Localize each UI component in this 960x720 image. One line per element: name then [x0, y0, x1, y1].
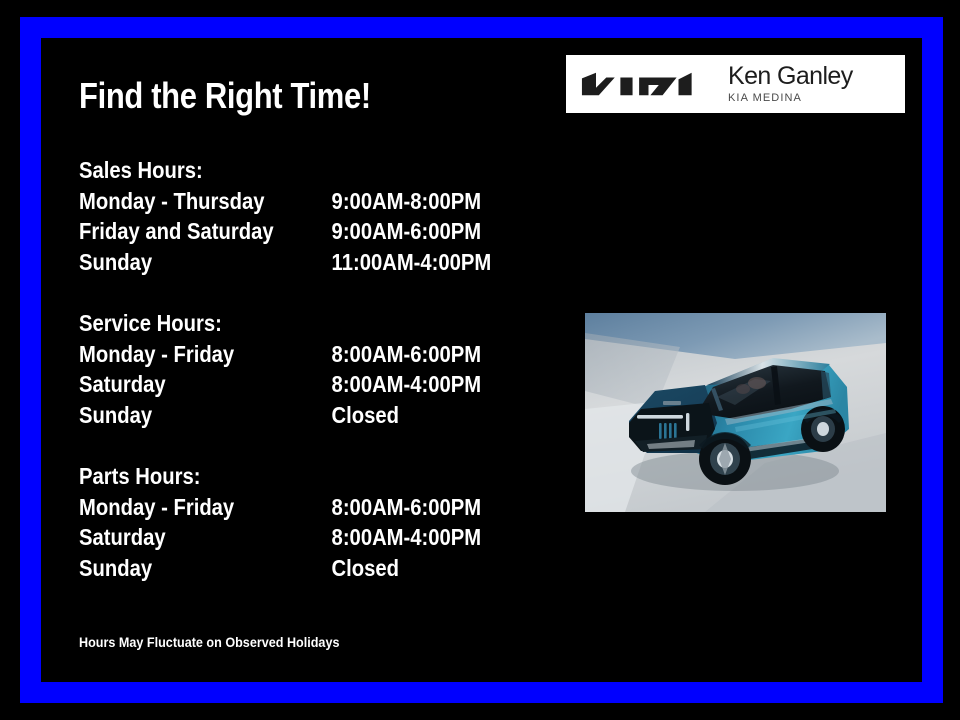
- hours-row-time: 11:00AM-4:00PM: [332, 247, 492, 278]
- dealer-name-wrap: Ken Ganley KIA MEDINA: [728, 64, 853, 104]
- hours-row: Monday - Friday 8:00AM-6:00PM: [79, 339, 519, 370]
- hours-row: Saturday 8:00AM-4:00PM: [79, 369, 519, 400]
- dealer-name: Ken Ganley: [728, 64, 853, 90]
- hours-row: Saturday 8:00AM-4:00PM: [79, 522, 519, 553]
- hours-row-day: Monday - Friday: [79, 339, 234, 370]
- hours-row-day: Monday - Friday: [79, 492, 234, 523]
- hours-row-day: Sunday: [79, 553, 152, 584]
- page-title: Find the Right Time!: [79, 78, 371, 114]
- hours-row-time: 8:00AM-4:00PM: [332, 522, 482, 553]
- hours-row: Sunday 11:00AM-4:00PM: [79, 247, 519, 278]
- hours-row: Monday - Thursday 9:00AM-8:00PM: [79, 186, 519, 217]
- dealer-subtitle: KIA MEDINA: [728, 92, 853, 104]
- hours-block-parts: Parts Hours: Monday - Friday 8:00AM-6:00…: [79, 461, 579, 583]
- kia-logo-icon: [580, 69, 702, 99]
- hours-row-time: 8:00AM-6:00PM: [332, 339, 482, 370]
- hours-row-day: Friday and Saturday: [79, 216, 274, 247]
- hours-row-time: Closed: [332, 553, 399, 584]
- dealer-logo-box: Ken Ganley KIA MEDINA: [566, 55, 905, 113]
- hours-heading-sales: Sales Hours:: [79, 155, 519, 186]
- slide-root: Find the Right Time! Sales Hours: Monday…: [0, 0, 960, 720]
- hours-row-time: Closed: [332, 400, 399, 431]
- kia-ev9-suv-photo: [585, 313, 886, 512]
- hours-row-time: 9:00AM-8:00PM: [332, 186, 482, 217]
- hours-row: Sunday Closed: [79, 400, 519, 431]
- hours-row-time: 8:00AM-4:00PM: [332, 369, 482, 400]
- hours-row-day: Saturday: [79, 522, 166, 553]
- hours-row: Monday - Friday 8:00AM-6:00PM: [79, 492, 519, 523]
- hours-row-time: 9:00AM-6:00PM: [332, 216, 482, 247]
- hours-block-service: Service Hours: Monday - Friday 8:00AM-6:…: [79, 308, 579, 430]
- hours-row: Sunday Closed: [79, 553, 519, 584]
- hours-row-day: Saturday: [79, 369, 166, 400]
- hours-row-day: Monday - Thursday: [79, 186, 265, 217]
- hours-heading-service: Service Hours:: [79, 308, 519, 339]
- hours-row: Friday and Saturday 9:00AM-6:00PM: [79, 216, 519, 247]
- slide-content-area: Find the Right Time! Sales Hours: Monday…: [41, 38, 922, 682]
- hours-row-day: Sunday: [79, 247, 152, 278]
- hours-heading-parts: Parts Hours:: [79, 461, 519, 492]
- hours-row-day: Sunday: [79, 400, 152, 431]
- hours-block-sales: Sales Hours: Monday - Thursday 9:00AM-8:…: [79, 155, 579, 277]
- hours-row-time: 8:00AM-6:00PM: [332, 492, 482, 523]
- footer-disclaimer: Hours May Fluctuate on Observed Holidays: [79, 634, 339, 650]
